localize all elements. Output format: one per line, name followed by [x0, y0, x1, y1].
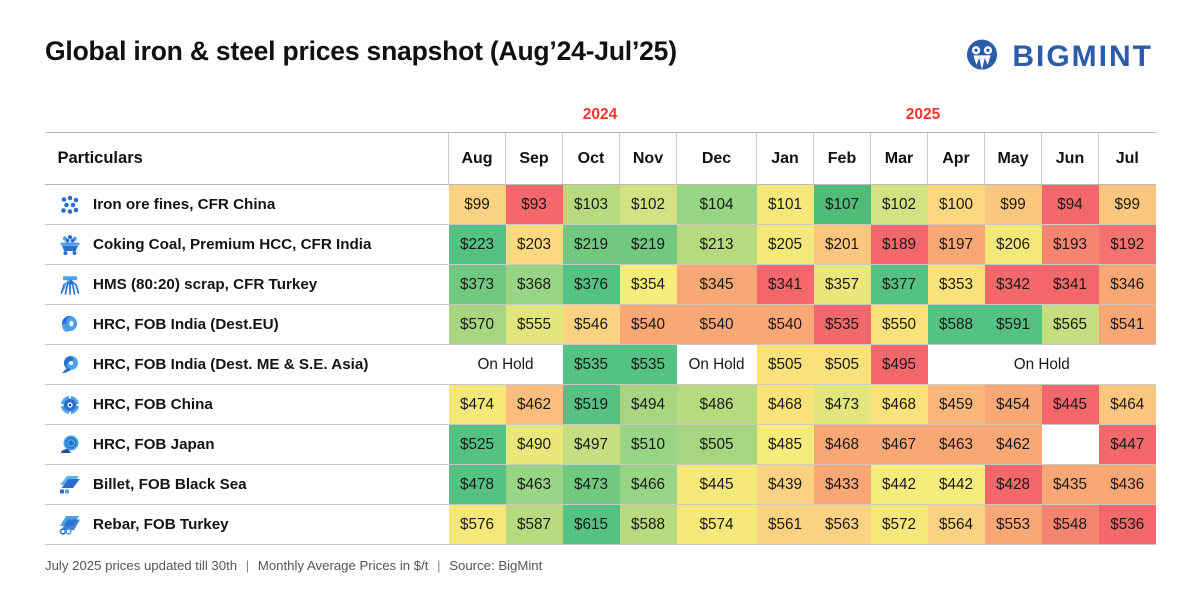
price-cell: $219: [563, 225, 620, 265]
price-cell-empty: [1042, 425, 1099, 465]
price-cell: $99: [985, 185, 1042, 225]
table-row: HRC, FOB India (Dest. ME & S.E. Asia)On …: [46, 345, 1156, 385]
price-cell: $203: [506, 225, 563, 265]
price-cell: $439: [757, 465, 814, 505]
price-cell: $466: [620, 465, 677, 505]
price-cell: $436: [1099, 465, 1156, 505]
price-cell: $373: [449, 265, 506, 305]
table-row: Billet, FOB Black Sea$478$463$473$466$44…: [46, 465, 1156, 505]
price-cell: $376: [563, 265, 620, 305]
price-cell: $368: [506, 265, 563, 305]
column-header-jul: Jul: [1099, 133, 1156, 185]
page-title: Global iron & steel prices snapshot (Aug…: [45, 36, 677, 68]
price-cell: $587: [506, 505, 563, 545]
price-cell: $189: [871, 225, 928, 265]
price-cell: $464: [1099, 385, 1156, 425]
column-header-jan: Jan: [757, 133, 814, 185]
row-label-cell: HMS (80:20) scrap, CFR Turkey: [46, 265, 449, 305]
row-label-cell: Billet, FOB Black Sea: [46, 465, 449, 505]
price-cell: $192: [1099, 225, 1156, 265]
table-row: Iron ore fines, CFR China$99$93$103$102$…: [46, 185, 1156, 225]
price-cell: $505: [677, 425, 757, 465]
row-label-text: HRC, FOB Japan: [93, 436, 215, 453]
price-cell: $536: [1099, 505, 1156, 545]
price-cell: $102: [620, 185, 677, 225]
price-cell: $468: [814, 425, 871, 465]
price-cell: $101: [757, 185, 814, 225]
column-header-feb: Feb: [814, 133, 871, 185]
row-label-cell: HRC, FOB China: [46, 385, 449, 425]
price-cell: $442: [871, 465, 928, 505]
price-cell: $553: [985, 505, 1042, 545]
bigmint-mark-icon: [963, 38, 1001, 76]
price-cell: $447: [1099, 425, 1156, 465]
price-cell: $206: [985, 225, 1042, 265]
price-cell: $463: [928, 425, 985, 465]
price-cell: $535: [814, 305, 871, 345]
price-cell: $104: [677, 185, 757, 225]
price-cell: $486: [677, 385, 757, 425]
price-cell: $468: [757, 385, 814, 425]
price-cell: $574: [677, 505, 757, 545]
price-cell: $201: [814, 225, 871, 265]
price-cell: $468: [871, 385, 928, 425]
hrc-coil-me-icon: [58, 353, 82, 377]
price-cell: $615: [563, 505, 620, 545]
price-cell: $428: [985, 465, 1042, 505]
hms-scrap-icon: [58, 273, 82, 297]
year-label-2024: 2024: [583, 106, 617, 124]
rebar-icon: [58, 513, 82, 537]
footer-units: Monthly Average Prices in $/t: [258, 558, 429, 573]
hrc-china-icon: [58, 393, 82, 417]
price-cell: $505: [814, 345, 871, 385]
price-cell: $341: [757, 265, 814, 305]
column-header-may: May: [985, 133, 1042, 185]
price-cell: $341: [1042, 265, 1099, 305]
row-label-text: Rebar, FOB Turkey: [93, 516, 229, 533]
table-row: HRC, FOB Japan$525$490$497$510$505$485$4…: [46, 425, 1156, 465]
bigmint-wordmark: BIGMINT: [1012, 40, 1153, 74]
price-cell: $474: [449, 385, 506, 425]
row-label-text: Coking Coal, Premium HCC, CFR India: [93, 236, 371, 253]
billet-icon: [58, 473, 82, 497]
price-cell: $525: [449, 425, 506, 465]
year-label-2025: 2025: [906, 106, 940, 124]
row-label-cell: Rebar, FOB Turkey: [46, 505, 449, 545]
price-cell: $563: [814, 505, 871, 545]
price-cell: $377: [871, 265, 928, 305]
price-cell: $490: [506, 425, 563, 465]
price-cell: $540: [677, 305, 757, 345]
price-cell: $354: [620, 265, 677, 305]
row-label-text: HRC, FOB India (Dest.EU): [93, 316, 279, 333]
price-cell: $462: [506, 385, 563, 425]
price-cell: $473: [814, 385, 871, 425]
prices-table: Particulars AugSepOctNovDecJanFebMarAprM…: [45, 132, 1156, 545]
price-cell: $205: [757, 225, 814, 265]
table-row: Rebar, FOB Turkey$576$587$615$588$574$56…: [46, 505, 1156, 545]
price-cell: $435: [1042, 465, 1099, 505]
price-cell: $99: [1099, 185, 1156, 225]
price-cell: $546: [563, 305, 620, 345]
table-row: HMS (80:20) scrap, CFR Turkey$373$368$37…: [46, 265, 1156, 305]
price-cell: $485: [757, 425, 814, 465]
price-cell: $462: [985, 425, 1042, 465]
price-cell: $540: [757, 305, 814, 345]
row-label-text: Billet, FOB Black Sea: [93, 476, 247, 493]
footer-separator-1: |: [241, 558, 254, 573]
column-header-oct: Oct: [563, 133, 620, 185]
row-label-text: Iron ore fines, CFR China: [93, 196, 275, 213]
table-row: Coking Coal, Premium HCC, CFR India$223$…: [46, 225, 1156, 265]
footer-updated: July 2025 prices updated till 30th: [45, 558, 237, 573]
column-header-aug: Aug: [449, 133, 506, 185]
column-header-particulars: Particulars: [46, 133, 449, 185]
price-cell: $588: [928, 305, 985, 345]
price-cell: $213: [677, 225, 757, 265]
table-head: Particulars AugSepOctNovDecJanFebMarAprM…: [46, 133, 1156, 185]
price-cell: $346: [1099, 265, 1156, 305]
footer-source: Source: BigMint: [449, 558, 542, 573]
price-cell: $555: [506, 305, 563, 345]
footer-separator-2: |: [432, 558, 445, 573]
price-cell: $94: [1042, 185, 1099, 225]
price-cell: $510: [620, 425, 677, 465]
price-cell: $565: [1042, 305, 1099, 345]
row-label-cell: HRC, FOB India (Dest.EU): [46, 305, 449, 345]
price-cell: $505: [757, 345, 814, 385]
price-cell: $467: [871, 425, 928, 465]
column-header-sep: Sep: [506, 133, 563, 185]
snapshot-page: Global iron & steel prices snapshot (Aug…: [0, 0, 1200, 600]
hrc-japan-icon: [58, 433, 82, 457]
price-cell: $591: [985, 305, 1042, 345]
price-cell: $572: [871, 505, 928, 545]
price-cell: $99: [449, 185, 506, 225]
price-cell: $564: [928, 505, 985, 545]
price-cell: $445: [677, 465, 757, 505]
price-cell: $497: [563, 425, 620, 465]
price-cell: $550: [871, 305, 928, 345]
price-cell: $494: [620, 385, 677, 425]
price-cell: $197: [928, 225, 985, 265]
price-cell: $535: [563, 345, 620, 385]
row-label-cell: Coking Coal, Premium HCC, CFR India: [46, 225, 449, 265]
price-cell: $454: [985, 385, 1042, 425]
price-cell: $103: [563, 185, 620, 225]
price-cell: $433: [814, 465, 871, 505]
price-cell: $495: [871, 345, 928, 385]
row-label-cell: Iron ore fines, CFR China: [46, 185, 449, 225]
column-header-dec: Dec: [677, 133, 757, 185]
price-cell: $357: [814, 265, 871, 305]
price-cell: $570: [449, 305, 506, 345]
price-cell: $576: [449, 505, 506, 545]
price-cell: $561: [757, 505, 814, 545]
row-label-text: HRC, FOB India (Dest. ME & S.E. Asia): [93, 356, 368, 373]
coking-coal-icon: [58, 233, 82, 257]
row-label-cell: HRC, FOB India (Dest. ME & S.E. Asia): [46, 345, 449, 385]
hrc-coil-eu-icon: [58, 313, 82, 337]
column-header-mar: Mar: [871, 133, 928, 185]
price-cell: $548: [1042, 505, 1099, 545]
price-cell: $107: [814, 185, 871, 225]
price-cell: $102: [871, 185, 928, 225]
year-band: 2024 2025: [45, 98, 1155, 132]
header-row: Particulars AugSepOctNovDecJanFebMarAprM…: [46, 133, 1156, 185]
price-cell-on-hold: On Hold: [449, 345, 563, 385]
footer-note: July 2025 prices updated till 30th | Mon…: [45, 558, 1155, 573]
bigmint-logo: BIGMINT: [963, 36, 1155, 76]
price-cell: $93: [506, 185, 563, 225]
table-row: HRC, FOB China$474$462$519$494$486$468$4…: [46, 385, 1156, 425]
price-cell: $100: [928, 185, 985, 225]
price-cell: $442: [928, 465, 985, 505]
price-cell: $535: [620, 345, 677, 385]
column-header-nov: Nov: [620, 133, 677, 185]
row-label-text: HRC, FOB China: [93, 396, 213, 413]
page-header: Global iron & steel prices snapshot (Aug…: [45, 0, 1155, 76]
row-label-cell: HRC, FOB Japan: [46, 425, 449, 465]
price-cell: $223: [449, 225, 506, 265]
row-label-text: HMS (80:20) scrap, CFR Turkey: [93, 276, 317, 293]
price-cell: $463: [506, 465, 563, 505]
price-cell: $445: [1042, 385, 1099, 425]
price-cell: $353: [928, 265, 985, 305]
table-body: Iron ore fines, CFR China$99$93$103$102$…: [46, 185, 1156, 545]
price-cell: $540: [620, 305, 677, 345]
table-row: HRC, FOB India (Dest.EU)$570$555$546$540…: [46, 305, 1156, 345]
column-header-jun: Jun: [1042, 133, 1099, 185]
price-cell: $478: [449, 465, 506, 505]
price-cell: $588: [620, 505, 677, 545]
price-cell: $219: [620, 225, 677, 265]
price-cell: $541: [1099, 305, 1156, 345]
price-cell: $342: [985, 265, 1042, 305]
iron-ore-fines-icon: [58, 193, 82, 217]
price-cell: $473: [563, 465, 620, 505]
price-cell: $459: [928, 385, 985, 425]
price-cell: $193: [1042, 225, 1099, 265]
column-header-apr: Apr: [928, 133, 985, 185]
price-cell-on-hold: On Hold: [928, 345, 1156, 385]
price-cell: $345: [677, 265, 757, 305]
price-cell: $519: [563, 385, 620, 425]
price-cell-on-hold: On Hold: [677, 345, 757, 385]
